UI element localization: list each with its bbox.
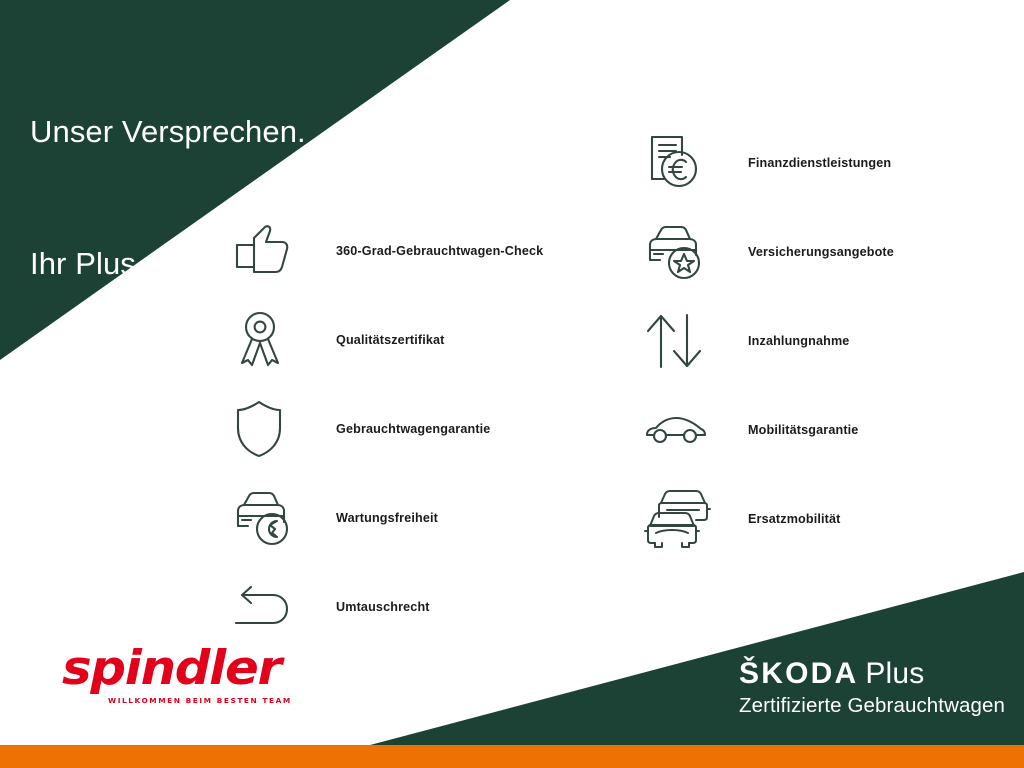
dealer-logo: spindler WILLKOMMEN BEIM BESTEN TEAM xyxy=(62,645,310,705)
award-rosette-icon xyxy=(232,308,304,372)
promo-banner: Unser Versprechen. Ihr Plus. 360-Grad-Ge… xyxy=(0,0,1024,768)
brand-logo-subtitle: Zertifizierte Gebrauchtwagen xyxy=(739,694,1005,718)
feature-item-exchange-right: Umtauschrecht xyxy=(232,562,592,651)
feature-item-trade-in: Inzahlungnahme xyxy=(644,296,994,385)
brand-logo: ŠKODAPlus Zertifizierte Gebrauchtwagen xyxy=(739,658,1005,718)
feature-label: Mobilitätsgarantie xyxy=(748,423,858,437)
two-cars-icon xyxy=(644,487,716,551)
feature-label: Versicherungsangebote xyxy=(748,245,894,259)
arrows-up-down-icon xyxy=(644,309,716,373)
brand-logo-top-line: ŠKODAPlus xyxy=(739,658,1005,690)
document-euro-icon xyxy=(644,131,716,195)
feature-item-360-check: 360-Grad-Gebrauchtwagen-Check xyxy=(232,206,592,295)
car-wrench-icon xyxy=(232,486,304,550)
car-star-icon xyxy=(644,220,716,284)
feature-item-quality-certificate: Qualitätszertifikat xyxy=(232,295,592,384)
feature-item-financial-services: Finanzdienstleistungen xyxy=(644,118,994,207)
feature-item-warranty: Gebrauchtwagengarantie xyxy=(232,384,592,473)
thumbs-up-icon xyxy=(232,219,304,283)
feature-list-left: 360-Grad-Gebrauchtwagen-Check Qualitätsz… xyxy=(232,206,592,651)
feature-label: Finanzdienstleistungen xyxy=(748,156,891,170)
brand-logo-mark: ŠKODA xyxy=(739,657,858,690)
car-side-icon xyxy=(644,398,716,462)
feature-label: Ersatzmobilität xyxy=(748,512,841,526)
feature-label: Qualitätszertifikat xyxy=(336,333,445,347)
dealer-logo-tagline: WILLKOMMEN BEIM BESTEN TEAM xyxy=(108,696,310,705)
feature-list-right: Finanzdienstleistungen Versicherungsange… xyxy=(644,118,994,563)
feature-label: Inzahlungnahme xyxy=(748,334,849,348)
headline-line-1: Unser Versprechen. xyxy=(30,110,306,154)
shield-icon xyxy=(232,397,304,461)
brand-logo-suffix: Plus xyxy=(865,657,924,690)
feature-item-mobility-guarantee: Mobilitätsgarantie xyxy=(644,385,994,474)
feature-label: Umtauschrecht xyxy=(336,600,430,614)
feature-label: 360-Grad-Gebrauchtwagen-Check xyxy=(336,244,543,258)
feature-item-insurance-offers: Versicherungsangebote xyxy=(644,207,994,296)
feature-label: Wartungsfreiheit xyxy=(336,511,438,525)
feature-label: Gebrauchtwagengarantie xyxy=(336,422,490,436)
dealer-logo-name: spindler xyxy=(62,645,325,692)
feature-item-maintenance-free: Wartungsfreiheit xyxy=(232,473,592,562)
footer-accent-bar xyxy=(0,745,1024,768)
feature-item-replacement-mobility: Ersatzmobilität xyxy=(644,474,994,563)
return-arrow-icon xyxy=(232,575,304,639)
